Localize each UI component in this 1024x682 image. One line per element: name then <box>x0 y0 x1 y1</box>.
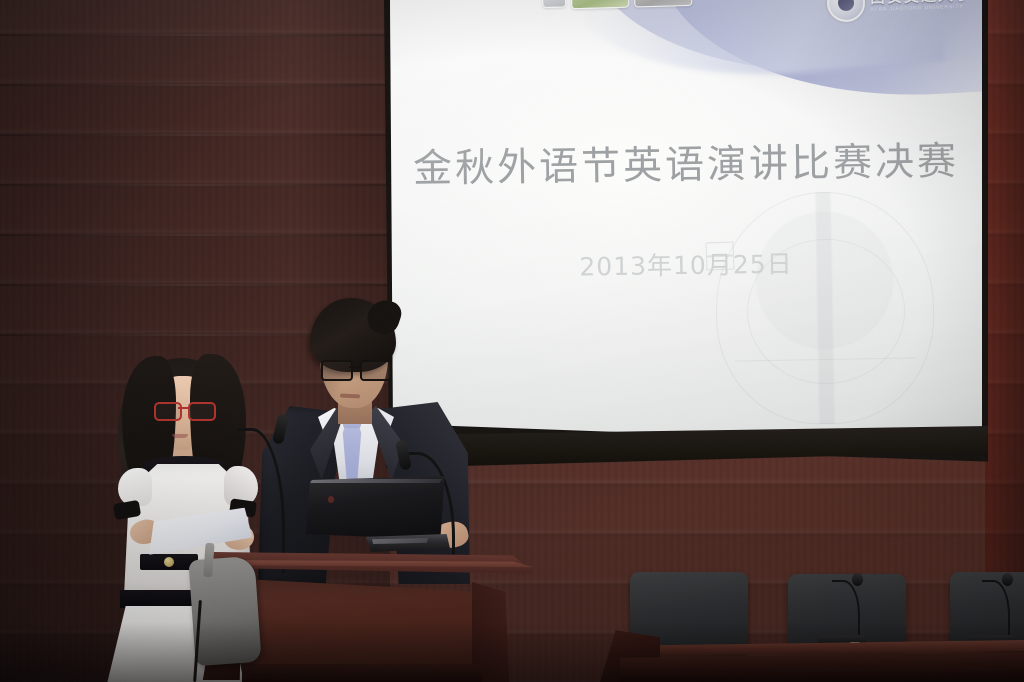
laptop[interactable] <box>306 476 446 556</box>
bag-strap <box>203 543 214 578</box>
university-seal-icon <box>826 0 865 23</box>
slide-title: 金秋外语节英语演讲比赛决赛 <box>390 130 982 194</box>
belt-button <box>164 557 174 567</box>
wall-plank-seam <box>0 284 390 286</box>
laptop-lid <box>306 476 446 542</box>
mouth <box>172 434 188 438</box>
lens-left <box>154 402 182 421</box>
university-name-en: XI'AN JIAOTONG UNIVERSITY <box>870 4 972 13</box>
slide-thumb-green <box>571 0 630 9</box>
laptop-lid-highlight <box>310 479 442 483</box>
lens-left <box>321 360 353 381</box>
screen-surface: 西安交通大学 XI'AN JIAOTONG UNIVERSITY 金秋外语节英语… <box>390 0 982 464</box>
eyeglasses-icon <box>320 360 390 377</box>
projection-screen: 西安交通大学 XI'AN JIAOTONG UNIVERSITY 金秋外语节英语… <box>384 0 988 480</box>
glasses-bridge <box>178 407 188 409</box>
eyeglasses-icon <box>154 402 212 417</box>
university-logo-text: 西安交通大学 XI'AN JIAOTONG UNIVERSITY <box>870 0 973 13</box>
glasses-bridge <box>349 366 361 368</box>
slide-seal-watermark <box>714 190 936 426</box>
mic-capsule-icon <box>852 573 863 586</box>
wall-plank-seam <box>0 34 390 36</box>
wall-plank-seam <box>0 184 390 186</box>
wall-plank-seam <box>0 234 390 236</box>
laptop-indicator-icon <box>328 496 334 503</box>
podium-microphone-left <box>238 428 282 570</box>
photo-scene: 西安交通大学 XI'AN JIAOTONG UNIVERSITY 金秋外语节英语… <box>0 0 1024 682</box>
lens-right <box>188 402 216 421</box>
mic-capsule-icon <box>1002 573 1013 586</box>
slide-thumb-small <box>542 0 567 8</box>
wall-plank-seam <box>0 84 390 86</box>
wall-plank-seam <box>0 134 390 136</box>
lens-right <box>360 360 392 381</box>
floor-shadow <box>0 622 1024 682</box>
